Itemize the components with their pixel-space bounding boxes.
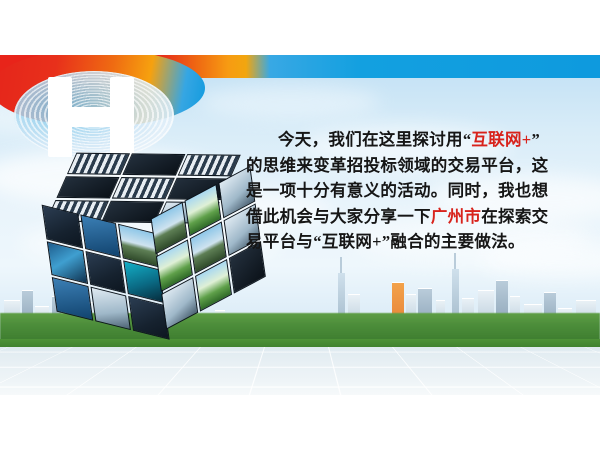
presentation-slide: 今天，我们在这里探讨用“互联网+”的思维来变革招投标领域的交易平台，这是一项十分…	[0, 0, 600, 450]
logo-h-mark	[48, 77, 140, 157]
slide-canvas: 今天，我们在这里探讨用“互联网+”的思维来变革招投标领域的交易平台，这是一项十分…	[0, 55, 600, 395]
body-text-run: ”	[531, 130, 540, 149]
cube-face-left	[42, 205, 170, 340]
body-line-2: 的思维来变革招投标领域的交易平台，这	[246, 153, 582, 179]
highlighted-text: 互联网+	[471, 130, 531, 149]
reflective-ground-grid	[0, 347, 600, 395]
slide-body-text: 今天，我们在这里探讨用“互联网+”的思维来变革招投标领域的交易平台，这是一项十分…	[246, 127, 582, 255]
body-text-run: 借此机会与大家分享一下	[246, 207, 431, 226]
body-line-1: 今天，我们在这里探讨用“互联网+”	[246, 127, 582, 153]
body-text-run: 易平台与“互联网+”融合的主要做法。	[246, 232, 525, 251]
body-text-run: 在探索交	[481, 207, 548, 226]
body-line-4: 借此机会与大家分享一下广州市在探索交	[246, 204, 582, 230]
cloud-decoration	[200, 85, 380, 119]
company-logo	[4, 63, 184, 163]
highlighted-text: 广州市	[431, 207, 481, 226]
body-line-5: 易平台与“互联网+”融合的主要做法。	[246, 229, 582, 255]
body-text-run: 是一项十分有意义的活动。同时，我也想	[246, 181, 548, 200]
body-text-run: 的思维来变革招投标领域的交易平台，这	[246, 156, 548, 175]
body-line-3: 是一项十分有意义的活动。同时，我也想	[246, 178, 582, 204]
rubiks-cube-graphic	[37, 141, 274, 344]
body-text-run: 今天，我们在这里探讨用	[278, 130, 463, 149]
